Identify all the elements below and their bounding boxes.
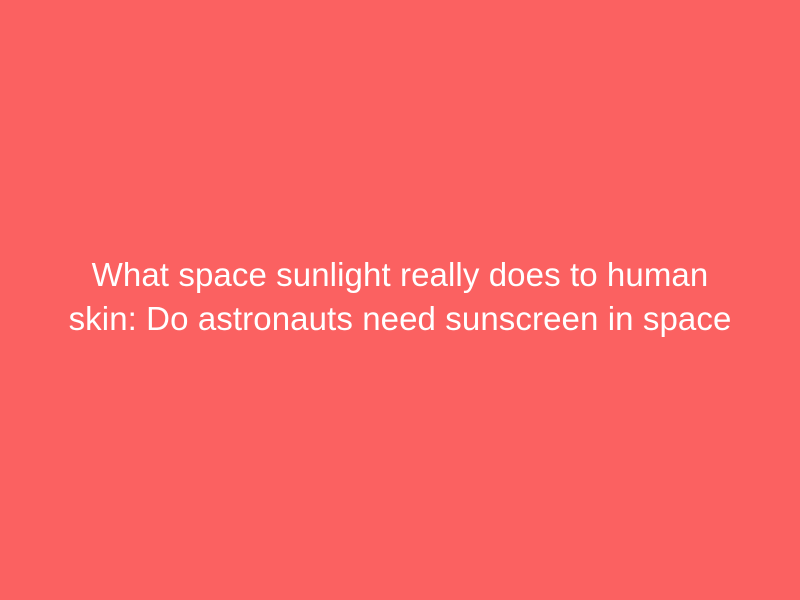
page-title: What space sunlight really does to human… (40, 253, 760, 341)
headline-card: What space sunlight really does to human… (0, 0, 800, 600)
headline-line-1: What space sunlight really does to human (40, 253, 760, 297)
headline-line-2: skin: Do astronauts need sunscreen in sp… (40, 297, 760, 341)
